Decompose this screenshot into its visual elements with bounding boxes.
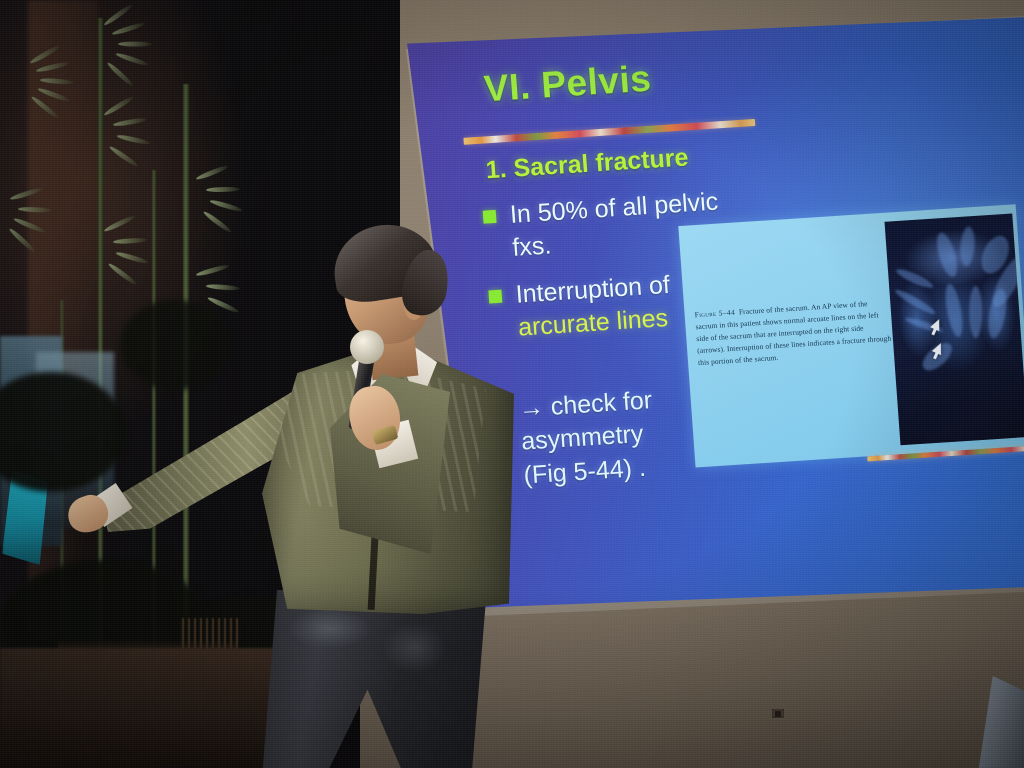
- trousers-highlight: [270, 600, 470, 760]
- microphone-head[interactable]: [350, 330, 384, 364]
- photo-scene: VI. Pelvis 1. Sacral fracture In 50% of …: [0, 0, 1024, 768]
- presenter: [0, 0, 1024, 768]
